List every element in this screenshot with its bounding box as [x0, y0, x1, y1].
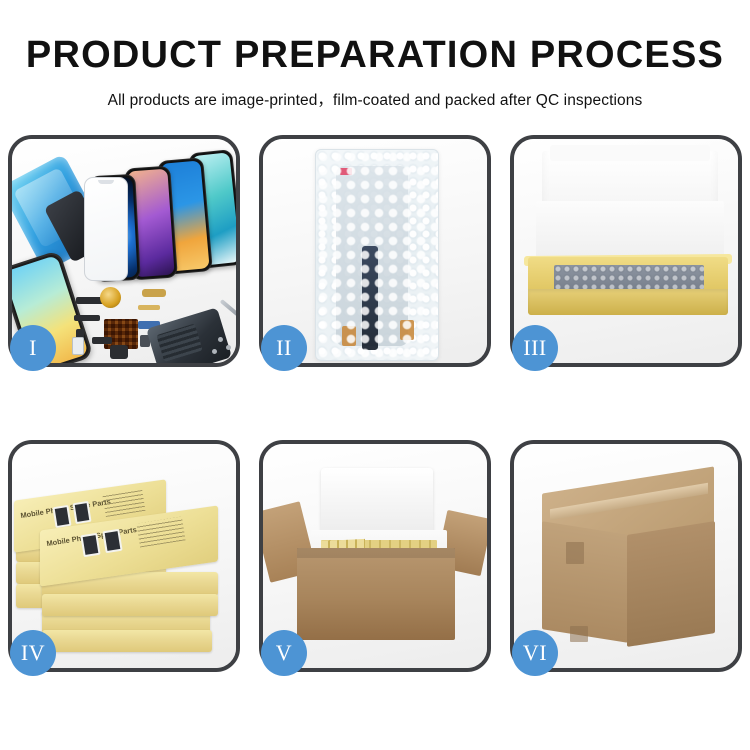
- process-step-panel-1: I: [8, 135, 240, 367]
- screen-flex-cable-icon: [362, 246, 378, 350]
- step-badge-1: I: [10, 325, 56, 371]
- sim-tray-part-icon: [72, 337, 84, 355]
- speaker-part-icon: [110, 345, 128, 359]
- stacked-box: [42, 630, 212, 652]
- step-badge-5: V: [261, 630, 307, 676]
- carton-body-icon: [297, 548, 455, 640]
- pink-label-sticker-icon: [340, 168, 352, 175]
- carton-right-face-icon: [627, 521, 715, 647]
- carton-tape-tab-icon: [566, 542, 584, 564]
- stacked-box: [42, 594, 218, 616]
- tempered-glass-icon: [84, 177, 128, 281]
- carton-tape-tab-icon: [570, 626, 588, 642]
- flex-tab-icon: [400, 320, 414, 340]
- small-flex-part-icon: [92, 337, 112, 344]
- page-subtitle: All products are image-printed，film-coat…: [0, 88, 750, 110]
- screw-icon: [212, 349, 217, 354]
- box-thumbnail-icon: [52, 505, 71, 528]
- button-flex-part-icon: [138, 305, 160, 310]
- screw-icon: [218, 337, 223, 342]
- box-thumbnail-icon: [102, 529, 122, 553]
- page-title: PRODUCT PREPARATION PROCESS: [0, 36, 750, 76]
- process-step-grid: I II: [8, 135, 742, 680]
- step-badge-2: II: [261, 325, 307, 371]
- poster-root: PRODUCT PREPARATION PROCESS All products…: [0, 0, 750, 750]
- yellow-box-front-icon: [528, 289, 728, 315]
- connector-part-icon: [74, 315, 100, 321]
- tweezers-icon: [220, 299, 236, 319]
- box-thumbnail-icon: [80, 533, 100, 557]
- process-step-panel-5: V: [259, 440, 491, 672]
- process-step-panel-3: III: [510, 135, 742, 367]
- box-thumbnail-icon: [72, 501, 91, 524]
- carton-left-face-icon: [542, 521, 628, 643]
- process-step-panel-6: VI: [510, 440, 742, 672]
- flex-cable-part-icon: [142, 289, 166, 297]
- phone-chassis-icon: [146, 307, 232, 363]
- process-step-panel-2: II: [259, 135, 491, 367]
- copper-coil-part-icon: [100, 287, 121, 308]
- screw-icon: [226, 345, 231, 350]
- step-badge-6: VI: [512, 630, 558, 676]
- process-step-panel-4: Mobile Phone Spare Parts Mobile Phone Sp…: [8, 440, 240, 672]
- bubble-wrap-bag-icon: [315, 149, 439, 361]
- flex-tab-icon: [342, 326, 356, 346]
- foam-lid-open-icon: [321, 468, 433, 536]
- step-badge-4: IV: [10, 630, 56, 676]
- header: PRODUCT PREPARATION PROCESS All products…: [0, 0, 750, 110]
- step-badge-3: III: [512, 325, 558, 371]
